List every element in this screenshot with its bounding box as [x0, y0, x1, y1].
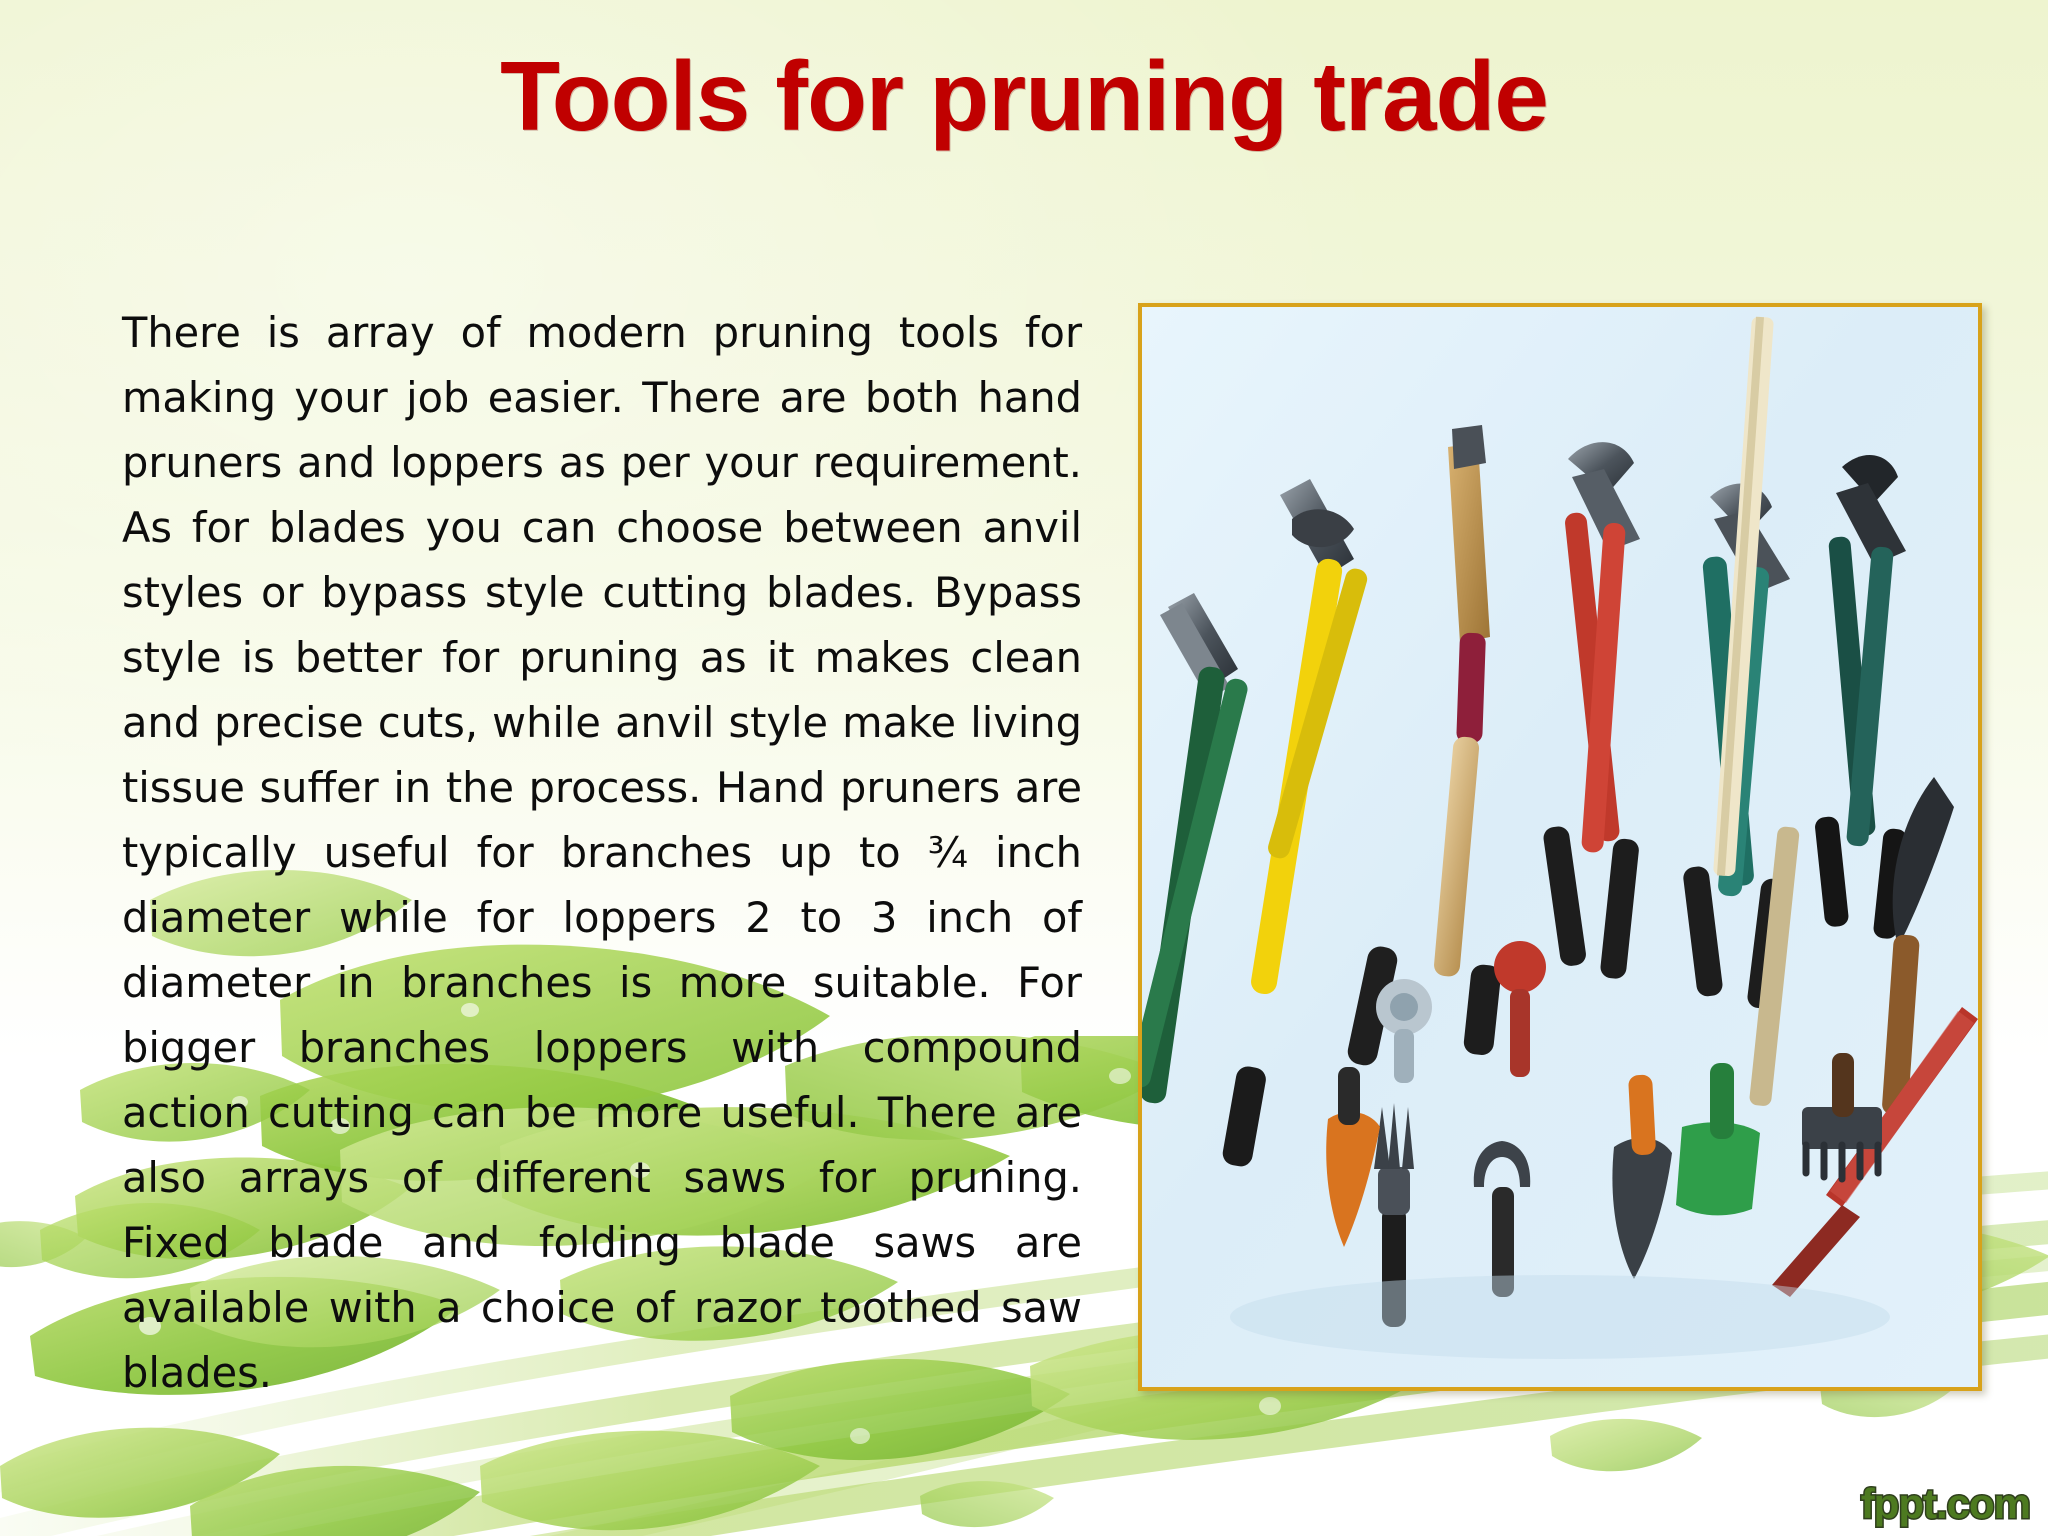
slide-title: Tools for pruning trade	[0, 44, 2048, 150]
fppt-watermark: fppt.com	[1861, 1480, 2030, 1528]
presentation-slide: Tools for pruning trade There is array o…	[0, 0, 2048, 1536]
slide-body-paragraph: There is array of modern pruning tools f…	[122, 300, 1082, 1405]
tools-image-frame	[1138, 303, 1982, 1391]
pruning-tools-illustration	[1142, 307, 1978, 1387]
pruning-tools-photo	[1142, 307, 1978, 1387]
